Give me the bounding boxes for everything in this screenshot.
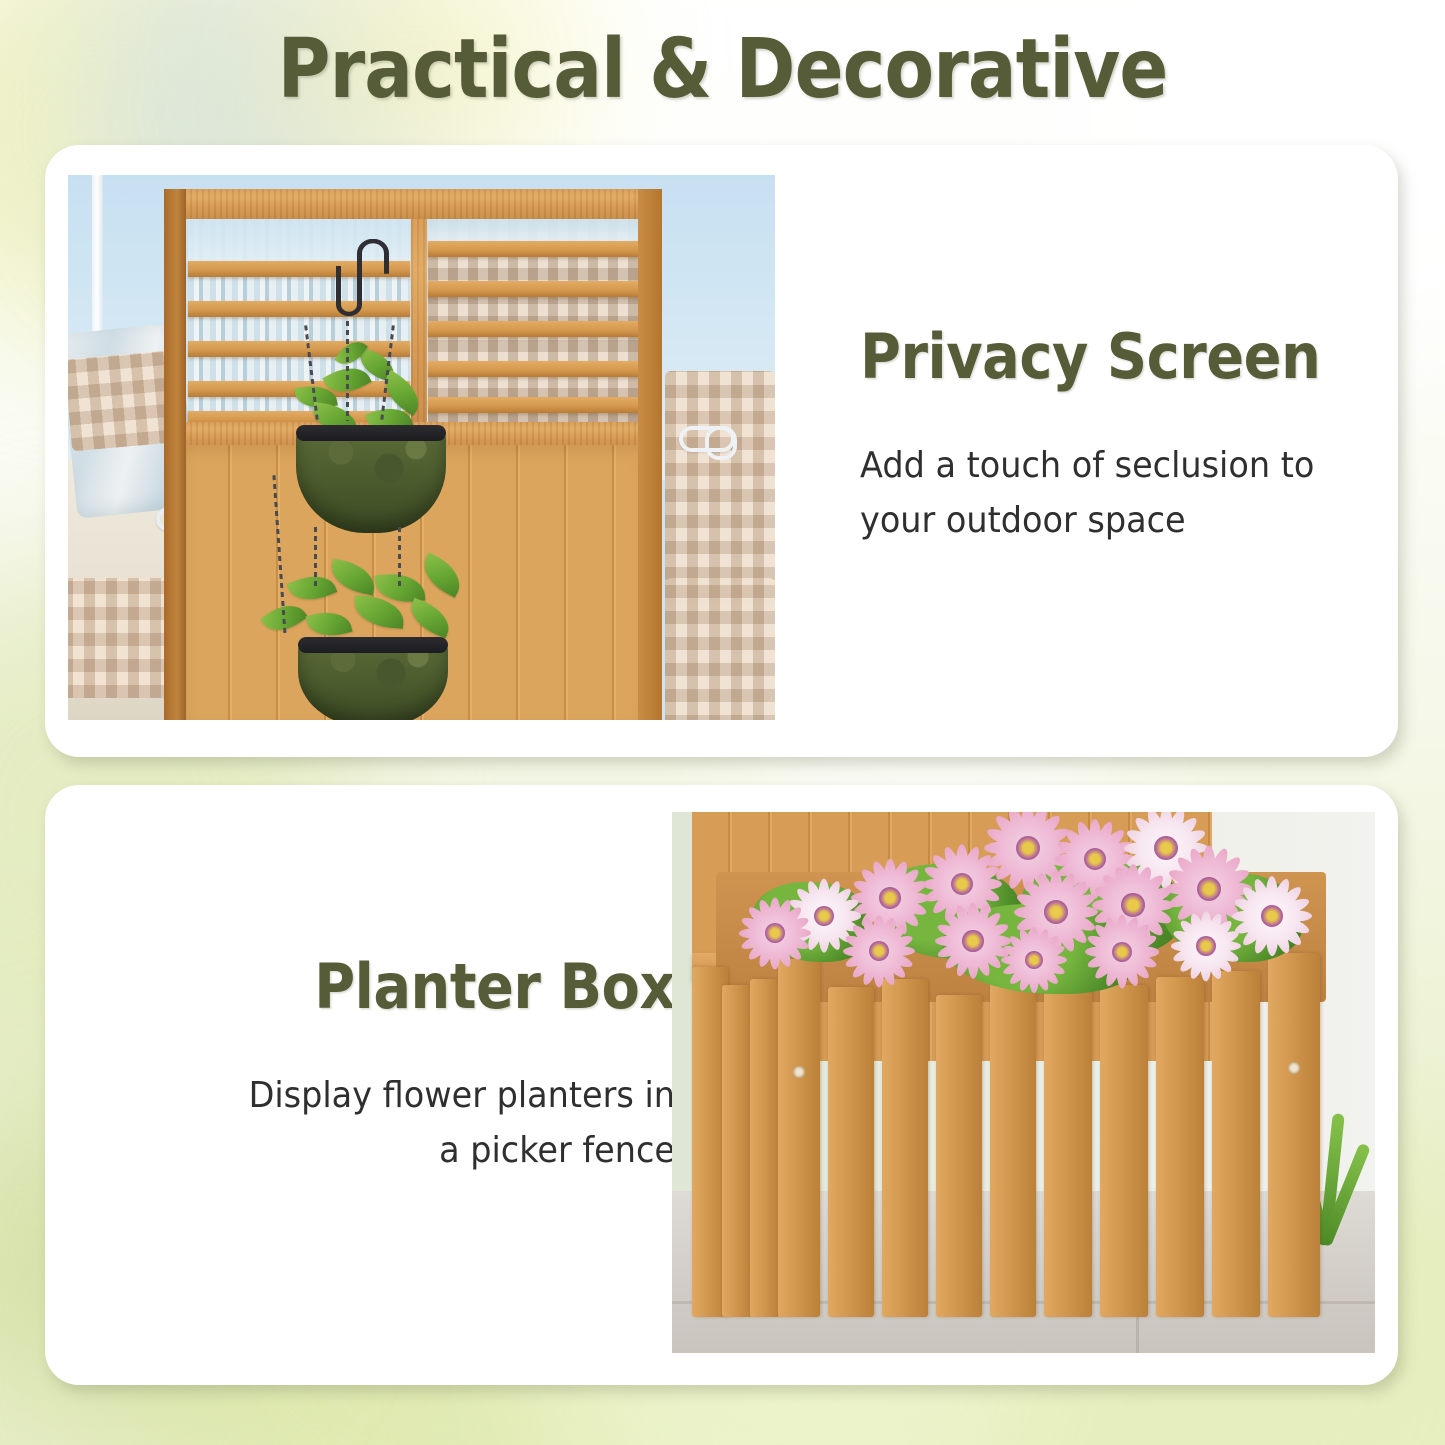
white-daisy	[1168, 908, 1244, 984]
fence-picket	[1156, 977, 1204, 1317]
fence-picket	[1100, 985, 1148, 1317]
wicker-texture	[68, 350, 177, 451]
pink-daisy	[998, 924, 1070, 996]
page-title: Practical & Decorative	[87, 22, 1359, 117]
louvre-slat	[428, 361, 640, 377]
planter-box-body: Display flower planters in a picker fenc…	[229, 1069, 675, 1178]
louvre-slat	[428, 397, 640, 413]
screen-left-post	[164, 189, 186, 720]
fence-picket	[1212, 971, 1260, 1317]
fence-picket	[1044, 969, 1092, 1317]
metal-hook-icon	[679, 426, 735, 452]
planter-box-heading: Planter Box	[243, 950, 675, 1023]
pink-daisy	[1082, 912, 1162, 992]
pink-daisy	[736, 894, 814, 972]
privacy-screen-heading: Privacy Screen	[860, 320, 1315, 393]
wicker-texture	[665, 371, 775, 606]
basket-rim	[298, 637, 448, 653]
fence-picket	[828, 987, 874, 1317]
hanging-moss-basket-bottom	[298, 637, 448, 720]
privacy-screen-photo	[68, 175, 775, 720]
fence-picket	[990, 979, 1036, 1317]
wooden-planter-box	[692, 872, 1352, 1317]
louvre-slat	[428, 281, 640, 297]
feature-card-privacy-screen: Privacy Screen Add a touch of seclusion …	[45, 145, 1398, 757]
fence-picket	[778, 959, 820, 1317]
louvre-slat	[428, 321, 640, 337]
basket-rim	[296, 425, 446, 441]
planter-box-photo	[672, 812, 1375, 1353]
fence-picket	[750, 979, 780, 1317]
pink-daisy	[840, 912, 918, 990]
louvre-slat	[428, 241, 640, 257]
louvre-slat	[188, 301, 410, 317]
hanging-chain	[314, 527, 317, 589]
hanging-chain	[346, 321, 349, 421]
s-hook-icon	[336, 266, 362, 316]
privacy-screen-text-block: Privacy Screen Add a touch of seclusion …	[860, 320, 1365, 548]
fence-picket	[936, 995, 982, 1317]
flower-arrangement	[722, 812, 1322, 1004]
screen-top-rail	[178, 189, 650, 219]
hanging-chain	[398, 527, 401, 589]
screen-right-post	[638, 189, 662, 720]
fence-picket	[722, 985, 752, 1317]
fence-picket	[882, 979, 928, 1317]
slat-gap	[428, 219, 640, 241]
privacy-screen-body: Add a touch of seclusion to your outdoor…	[860, 439, 1330, 548]
planter-box-text-block: Planter Box Display flower planters in a…	[195, 950, 675, 1178]
fence-picket-corner	[1268, 953, 1320, 1317]
wicker-texture	[665, 578, 775, 720]
feature-card-planter-box: Planter Box Display flower planters in a…	[45, 785, 1398, 1385]
